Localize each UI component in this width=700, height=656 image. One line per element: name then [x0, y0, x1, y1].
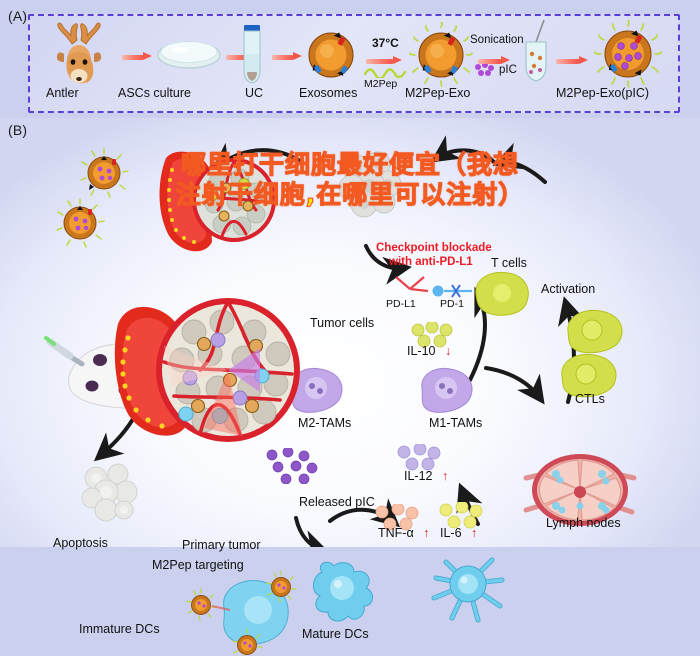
il-6-up-arrow-icon: ↑: [471, 526, 477, 540]
m2pep-exosome-pic-icon: [594, 20, 662, 88]
label-t-cells: T cells: [491, 256, 527, 270]
label-il-10-text: IL-10: [407, 344, 436, 358]
label-il-6-text: IL-6: [440, 526, 462, 540]
injected-exosome-group-icon: [52, 144, 162, 264]
ctl-cells-icon: [558, 306, 634, 402]
label-pd-l1: PD-L1: [386, 298, 416, 310]
label-pd-1: PD-1: [440, 298, 464, 310]
label-tnf-alpha-text: TNF-α: [378, 526, 414, 540]
m1-tam-cell-icon: [412, 364, 484, 422]
m2pep-exosome-icon: [408, 22, 474, 88]
il-12-cytokine-icon: [396, 444, 446, 472]
panel-a-step-label-exosomes: Exosomes: [299, 86, 357, 100]
metastatic-tumor-icon: [152, 144, 282, 262]
label-checkpoint-blockade-line2: with anti-PD-L1: [389, 256, 473, 268]
arrow-pic-to-dc: [296, 518, 322, 547]
t-cell-icon: [470, 268, 534, 320]
panel-a-pic-label: pIC: [499, 64, 517, 76]
panel-a-step-label-m2pep-exo: M2Pep-Exo: [405, 86, 470, 100]
primary-tumor-icon: [112, 288, 324, 448]
mature-dc-icon: [428, 554, 510, 630]
label-lymph-nodes: Lymph nodes: [546, 516, 621, 530]
arrow-activation-to-tcells: [500, 162, 545, 182]
immature-dc-icon: [306, 558, 382, 628]
panel-b-letter: (B): [8, 122, 27, 138]
label-il-12: IL-12 ↑: [404, 469, 448, 483]
arrow-sonication-to-product: [556, 56, 588, 65]
centrifuge-tube-icon: [240, 24, 264, 86]
m2pep-peptide-icon: [364, 66, 406, 78]
il-12-up-arrow-icon: ↑: [442, 469, 448, 483]
panel-a-step-label-asc: ASCs culture: [118, 86, 191, 100]
label-ctls: CTLs: [575, 392, 605, 406]
tnf-alpha-up-arrow-icon: ↑: [423, 526, 429, 540]
il-10-down-arrow-icon: ↓: [445, 344, 451, 358]
antler-deer-icon: [44, 22, 118, 88]
label-apoptosis: Apoptosis: [53, 536, 108, 550]
panel-a-letter: (A): [8, 8, 27, 24]
panel-a-temperature-label: 37°C: [372, 36, 399, 50]
panel-a-step-label-antler: Antler: [46, 86, 79, 100]
arrow-maturedc-to-lymph: [486, 368, 540, 398]
released-pic-particles-icon: [264, 448, 324, 484]
m2pep-targeting-illustration: [186, 570, 306, 656]
arrow-antler-to-asc: [122, 52, 152, 61]
label-checkpoint-blockade-line1: Checkpoint blockade: [376, 242, 492, 254]
arrow-m2pepexo-to-sonication: [478, 56, 510, 65]
label-tumor-killing: Immature DCs: [79, 622, 160, 636]
label-activation: Activation: [541, 282, 595, 296]
label-tnf-alpha: TNF-α ↑: [378, 526, 429, 540]
figure-canvas: (A) Antler ASCs culture: [0, 0, 700, 547]
panel-a: (A) Antler ASCs culture: [0, 0, 700, 118]
label-il-10: IL-10 ↓: [407, 344, 451, 358]
petri-dish-icon: [156, 38, 222, 72]
arrow-tcell-to-tumor: [437, 150, 495, 163]
tumor-cells-icon: [330, 146, 408, 222]
label-il-6: IL-6 ↑: [440, 526, 477, 540]
panel-b: (B): [0, 118, 700, 547]
label-released-pic: Released pIC: [299, 495, 375, 509]
label-il-12-text: IL-12: [404, 469, 433, 483]
exosome-icon: [302, 26, 360, 84]
panel-a-step-label-uc: UC: [245, 86, 263, 100]
panel-a-sonication-label: Sonication: [470, 34, 524, 46]
arrow-exosome-to-m2pep: [366, 56, 402, 65]
label-primary-tumor: Primary tumor: [182, 538, 260, 552]
apoptotic-cell-icon: [74, 458, 150, 528]
panel-a-m2pep-label: M2Pep: [364, 78, 397, 90]
sonicator-tube-icon: [518, 20, 554, 86]
panel-a-step-label-final: M2Pep-Exo(pIC): [556, 86, 649, 100]
label-immature-dcs: Mature DCs: [302, 627, 369, 641]
arrow-uc-to-exosomes: [272, 52, 302, 61]
label-m1-tams: M1-TAMs: [429, 416, 482, 430]
